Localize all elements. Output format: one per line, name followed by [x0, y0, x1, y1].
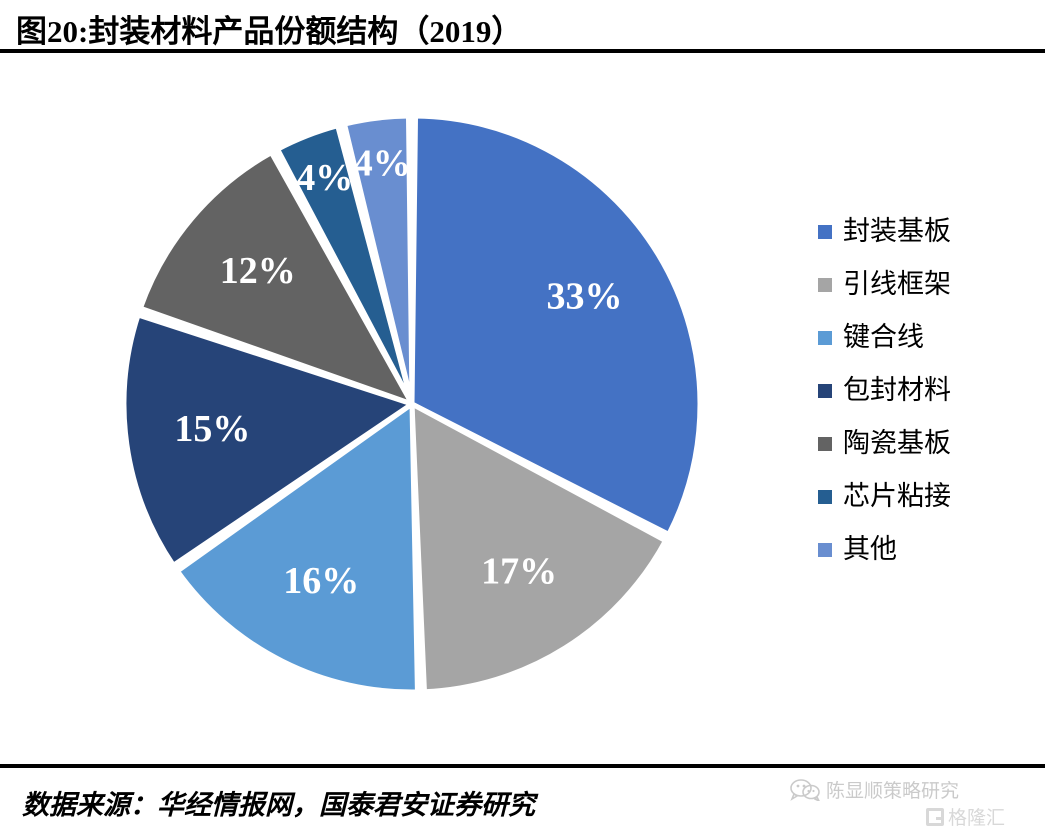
footer-divider-rule — [0, 764, 1045, 768]
gelonghui-watermark: 格隆汇 — [926, 803, 1005, 830]
pie-slice-value-label: 4% — [354, 143, 411, 185]
legend-item-label: 其他 — [843, 536, 897, 563]
gelonghui-logo-icon — [926, 808, 944, 826]
chart-legend: 封装基板引线框架键合线包封材料陶瓷基板芯片粘接其他 — [818, 205, 1028, 576]
pie-slice-value-label: 16% — [283, 560, 359, 602]
chart-area: 33%17%16%15%12%4%4% 封装基板引线框架键合线包封材料陶瓷基板芯… — [0, 53, 1045, 764]
legend-swatch-icon — [818, 437, 832, 451]
pie-slice-value-label: 15% — [174, 408, 250, 450]
legend-item[interactable]: 芯片粘接 — [818, 470, 1028, 523]
data-source-note: 数据来源：华经情报网，国泰君安证券研究 — [22, 783, 535, 822]
legend-swatch-icon — [818, 331, 832, 345]
legend-item[interactable]: 引线框架 — [818, 258, 1028, 311]
legend-item[interactable]: 陶瓷基板 — [818, 417, 1028, 470]
pie-slice-group — [124, 116, 700, 692]
wechat-watermark: 陈显顺策略研究 — [790, 776, 959, 803]
pie-slice-value-label: 12% — [220, 250, 296, 292]
wechat-icon — [790, 779, 820, 801]
legend-item[interactable]: 键合线 — [818, 311, 1028, 364]
wechat-account-name: 陈显顺策略研究 — [826, 776, 959, 803]
legend-swatch-icon — [818, 225, 832, 239]
legend-item[interactable]: 其他 — [818, 523, 1028, 576]
gelonghui-label: 格隆汇 — [948, 803, 1005, 830]
page-title: 图20:封装材料产品份额结构（2019） — [16, 6, 522, 51]
pie-chart: 33%17%16%15%12%4%4% — [122, 114, 702, 694]
legend-item-label: 封装基板 — [843, 218, 951, 245]
legend-swatch-icon — [818, 384, 832, 398]
legend-item[interactable]: 封装基板 — [818, 205, 1028, 258]
legend-swatch-icon — [818, 278, 832, 292]
legend-swatch-icon — [818, 543, 832, 557]
legend-swatch-icon — [818, 490, 832, 504]
legend-item-label: 键合线 — [843, 324, 924, 351]
legend-item-label: 引线框架 — [843, 271, 951, 298]
pie-slice-value-label: 4% — [296, 157, 353, 199]
legend-item[interactable]: 包封材料 — [818, 364, 1028, 417]
pie-slice-value-label: 17% — [481, 551, 557, 593]
legend-item-label: 包封材料 — [843, 377, 951, 404]
legend-item-label: 芯片粘接 — [843, 483, 951, 510]
pie-slice-value-label: 33% — [547, 275, 623, 317]
pie-chart-svg: 33%17%16%15%12%4%4% — [122, 114, 702, 694]
legend-item-label: 陶瓷基板 — [843, 430, 951, 457]
